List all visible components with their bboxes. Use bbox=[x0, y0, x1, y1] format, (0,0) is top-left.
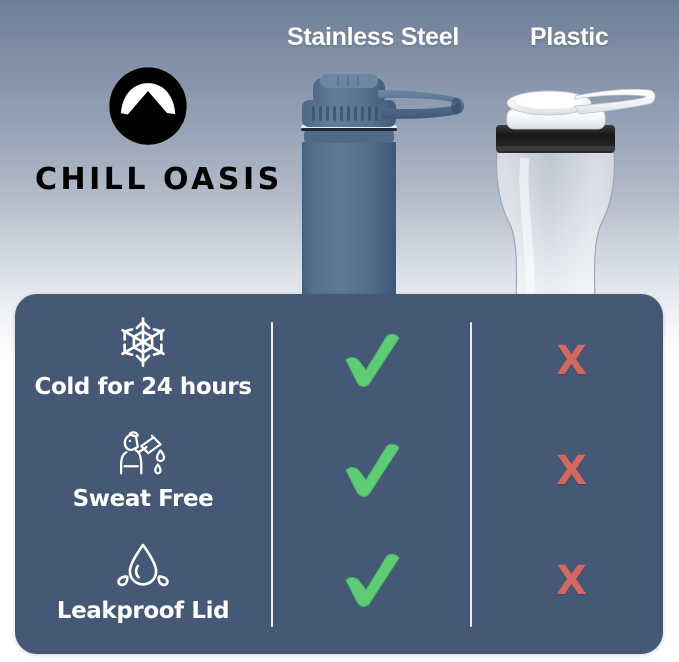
verdict-plastic-sweat: X bbox=[472, 442, 671, 500]
verdict-steel-cold bbox=[273, 332, 472, 393]
check-icon bbox=[343, 442, 403, 498]
feature-comparison-panel: Cold for 24 hours bbox=[15, 294, 663, 654]
verdict-plastic-leakproof: X bbox=[472, 552, 671, 610]
feature-row: Sweat Free bbox=[15, 426, 271, 512]
brand-block: CHILL OASIS bbox=[35, 62, 260, 197]
cross-icon: X bbox=[472, 332, 671, 390]
person-drinking-sweat-icon bbox=[115, 426, 171, 482]
check-icon bbox=[343, 552, 403, 608]
snowflake-icon bbox=[115, 314, 171, 370]
brand-name: CHILL OASIS bbox=[35, 162, 260, 197]
feature-row: Leakproof Lid bbox=[15, 538, 271, 624]
verdict-steel-leakproof bbox=[273, 552, 472, 613]
comparison-infographic: Stainless Steel Plastic CHILL OASIS bbox=[0, 0, 679, 662]
check-icon bbox=[343, 332, 403, 388]
feature-label: Leakproof Lid bbox=[15, 598, 271, 624]
verdict-steel-sweat bbox=[273, 442, 472, 503]
water-droplet-icon bbox=[115, 538, 171, 594]
verdict-plastic-cold: X bbox=[472, 332, 671, 390]
cross-icon: X bbox=[472, 552, 671, 610]
mountain-wave-circle-logo-icon bbox=[104, 62, 192, 150]
stainless-steel-bottle-image bbox=[290, 68, 480, 303]
feature-row: Cold for 24 hours bbox=[15, 314, 271, 400]
plastic-bottle-image bbox=[487, 72, 672, 307]
feature-label: Sweat Free bbox=[15, 486, 271, 512]
column-header-plastic: Plastic bbox=[530, 23, 609, 52]
feature-label: Cold for 24 hours bbox=[15, 374, 271, 400]
cross-icon: X bbox=[472, 442, 671, 500]
column-header-stainless-steel: Stainless Steel bbox=[287, 23, 459, 52]
